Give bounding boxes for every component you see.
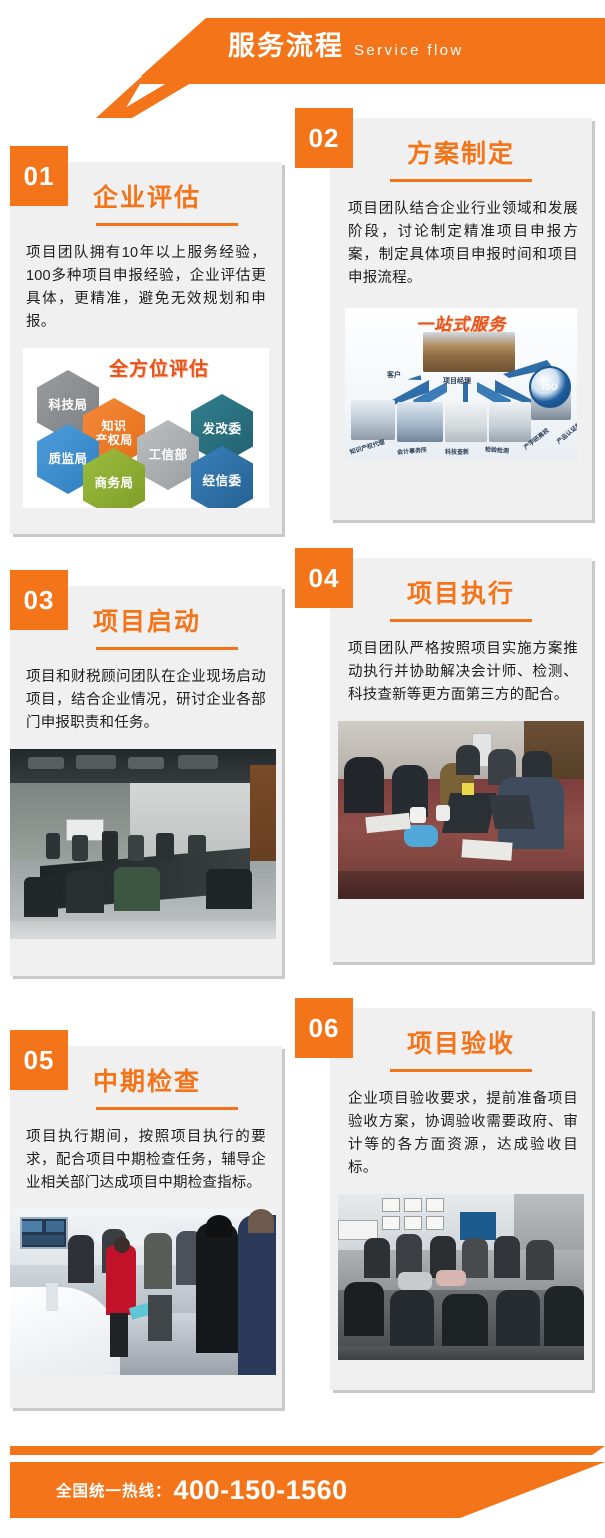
- step-card-03[interactable]: 项目启动 项目和财税顾问团队在企业现场启动项目，结合企业情况，研讨企业各部门申报…: [10, 586, 282, 976]
- card-body-04: 项目团队严格按照项目实施方案推动执行并协助解决会计师、检测、科技查新等更方面第三…: [330, 622, 592, 721]
- step-badge-04: 04: [295, 548, 353, 608]
- card-title-underline-04: [390, 619, 532, 622]
- one-stop-label-accounting: 会计事务所: [397, 445, 428, 457]
- hotline-label: 全国统一热线：: [56, 1479, 172, 1501]
- hexagon-assessment-figure: 全方位评估 科技局 知识 产权局 发改委 质监局 工信部 商务局 经信委: [23, 348, 269, 508]
- card-body-02: 项目团队结合企业行业领域和发展阶段，讨论制定精准项目申报方案，制定具体项目申报时…: [330, 182, 592, 304]
- photo-meeting-room: [10, 749, 276, 939]
- step-card-01[interactable]: 企业评估 项目团队拥有10年以上服务经验，100多种项目申报经验，企业评估更具体…: [10, 162, 282, 534]
- step-number-01: 01: [24, 161, 55, 192]
- card-title-underline-02: [390, 179, 532, 182]
- one-stop-label-testing: 检验检测: [485, 444, 510, 455]
- hotline-number[interactable]: 400-150-1560: [174, 1475, 348, 1506]
- card-title-04: 项目执行: [330, 558, 592, 610]
- hotline: 全国统一热线： 400-150-1560: [56, 1462, 348, 1518]
- step-number-04: 04: [309, 563, 340, 594]
- step-number-03: 03: [24, 585, 55, 616]
- page-title: 服务流程 Service flow: [228, 26, 464, 70]
- card-title-01: 企业评估: [70, 162, 282, 214]
- card-body-01: 项目团队拥有10年以上服务经验，100多种项目申报经验，企业评估更具体，更精准，…: [10, 226, 282, 348]
- step-number-02: 02: [309, 123, 340, 154]
- step-badge-05: 05: [10, 1030, 68, 1090]
- step-card-02[interactable]: 方案制定 项目团队结合企业行业领域和发展阶段，讨论制定精准项目申报方案，制定具体…: [330, 118, 592, 520]
- card-body-03: 项目和财税顾问团队在企业现场启动项目，结合企业情况，研讨企业各部门申报职责和任务…: [10, 650, 282, 749]
- card-title-03: 项目启动: [70, 586, 282, 638]
- one-stop-figure-title: 一站式服务: [416, 310, 506, 335]
- step-card-06[interactable]: 项目验收 企业项目验收要求，提前准备项目验收方案，协调验收需要政府、审计等的各方…: [330, 1008, 592, 1390]
- card-title-06: 项目验收: [330, 1008, 592, 1060]
- one-stop-photo-accounting: [397, 402, 443, 442]
- one-stop-label-customer: 客户: [387, 370, 401, 380]
- photo-boardroom: [338, 1194, 584, 1360]
- step-card-05[interactable]: 中期检查 项目执行期间，按照项目执行的要求，配合项目中期检查任务，辅导企业相关部…: [10, 1046, 282, 1408]
- card-title-row-02: 方案制定: [330, 118, 592, 182]
- footer-thin-stripe: [10, 1446, 605, 1455]
- step-badge-01: 01: [10, 146, 68, 206]
- card-title-05: 中期检查: [70, 1046, 282, 1098]
- card-title-underline-03: [96, 647, 238, 650]
- step-number-06: 06: [309, 1013, 340, 1044]
- card-body-06: 企业项目验收要求，提前准备项目验收方案，协调验收需要政府、审计等的各方面资源，达…: [330, 1072, 592, 1194]
- one-stop-photo-ip: [351, 400, 395, 440]
- service-flow-poster: 服务流程 Service flow 01 企业评估 项目团队拥有10年以上服务经…: [0, 0, 605, 1538]
- card-title-row-06: 项目验收: [330, 1008, 592, 1072]
- one-stop-photo-testing: [489, 402, 531, 442]
- card-title-underline-06: [390, 1069, 532, 1072]
- one-stop-label-research: 科技查新: [445, 447, 469, 456]
- hexagon-figure-title: 全方位评估: [109, 354, 209, 381]
- hex-node-jingxinwei: 经信委: [191, 446, 253, 508]
- step-number-05: 05: [24, 1045, 55, 1076]
- card-title-underline-05: [96, 1107, 238, 1110]
- one-stop-label-manager: 项目经理: [443, 376, 471, 386]
- page-header: 服务流程 Service flow: [0, 0, 605, 118]
- photo-showroom-visit: [10, 1209, 276, 1375]
- hex-node-gongxinbu: 工信部: [137, 420, 199, 490]
- card-title-underline-01: [96, 223, 238, 226]
- certification-seal-icon: ISO: [529, 366, 571, 408]
- step-badge-06: 06: [295, 998, 353, 1058]
- one-stop-photo-research: [445, 402, 487, 442]
- photo-desk-meeting: [338, 721, 584, 899]
- step-badge-03: 03: [10, 570, 68, 630]
- card-body-05: 项目执行期间，按照项目执行的要求，配合项目中期检查任务，辅导企业相关部门达成项目…: [10, 1110, 282, 1209]
- page-title-cn: 服务流程: [228, 26, 344, 66]
- page-title-en: Service flow: [354, 31, 464, 71]
- step-badge-02: 02: [295, 108, 353, 168]
- card-title-row-04: 项目执行: [330, 558, 592, 622]
- page-footer: 全国统一热线： 400-150-1560: [0, 1428, 605, 1538]
- one-stop-service-figure: 一站式服务 客户 项目经理 ISO 知识产权代理: [345, 308, 577, 460]
- one-stop-team-photo: [423, 332, 515, 372]
- card-title-02: 方案制定: [330, 118, 592, 170]
- step-card-04[interactable]: 项目执行 项目团队严格按照项目实施方案推动执行并协助解决会计师、检测、科技查新等…: [330, 558, 592, 962]
